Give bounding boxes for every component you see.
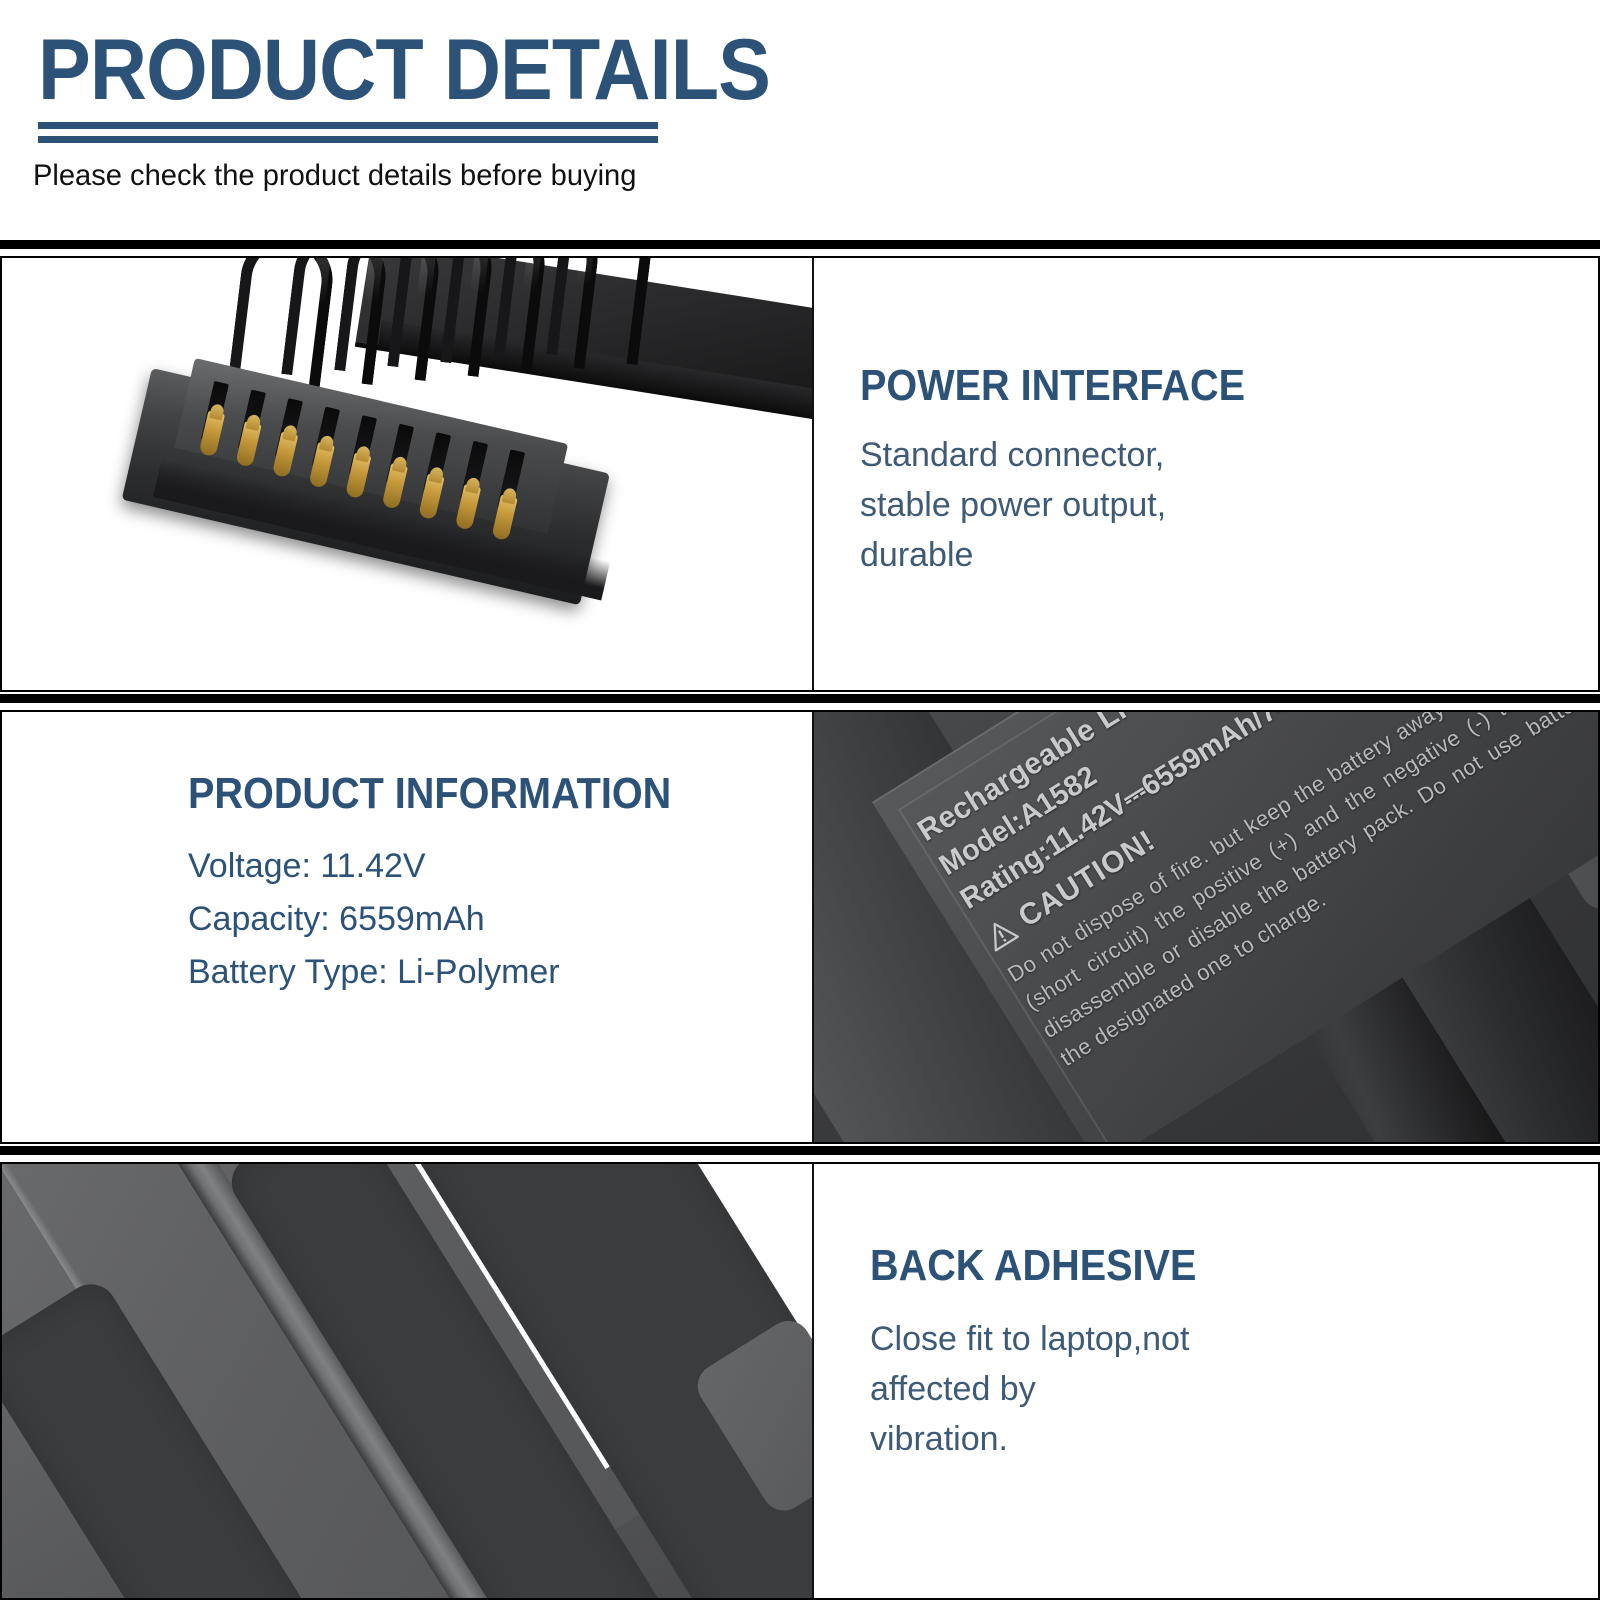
page-subtitle: Please check the product details before … (33, 157, 636, 195)
page-header: PRODUCT DETAILS Please check the product… (0, 0, 1600, 240)
connector-wire (546, 258, 656, 365)
panel-product-information-image-half: Rechargeable Li-ion Battery Pack Model:A… (812, 712, 1598, 1142)
panel-power-interface-image-half (2, 258, 812, 690)
spec-capacity: Capacity: 6559mAh (188, 893, 725, 946)
back-adhesive-body-line: affected by (870, 1364, 1233, 1414)
title-rule-bar-bottom (38, 136, 658, 143)
connector-gold-pin (235, 421, 261, 468)
connector-gold-pin (308, 442, 334, 489)
panel-product-information: PRODUCT INFORMATION Voltage: 11.42V Capa… (0, 710, 1600, 1144)
panel-back-adhesive-image-half (2, 1164, 812, 1598)
page-title: PRODUCT DETAILS (38, 26, 770, 114)
connector-gold-pin (199, 410, 225, 457)
section-divider-rule-3 (0, 1146, 1600, 1155)
power-interface-body-line: Standard connector, (860, 430, 1288, 480)
back-adhesive-heading: BACK ADHESIVE (870, 1242, 1196, 1290)
product-information-heading: PRODUCT INFORMATION (188, 770, 671, 818)
connector-gold-pin (272, 431, 298, 478)
product-information-text-block: PRODUCT INFORMATION Voltage: 11.42V Capa… (188, 770, 725, 999)
back-adhesive-body-line: Close fit to laptop,not (870, 1314, 1233, 1364)
panel-product-information-text-half: PRODUCT INFORMATION Voltage: 11.42V Capa… (2, 712, 812, 1142)
panel-vertical-divider (812, 258, 814, 690)
back-adhesive-photo (2, 1164, 812, 1598)
panel-back-adhesive: BACK ADHESIVE Close fit to laptop,not af… (0, 1162, 1600, 1600)
section-divider-rule-2 (0, 694, 1600, 703)
power-interface-body-line: durable (860, 530, 1288, 580)
back-adhesive-body-line: vibration. (870, 1414, 1233, 1464)
power-interface-body-line: stable power output, (860, 480, 1288, 530)
power-interface-heading: POWER INTERFACE (860, 362, 1245, 410)
title-rule-bar-top (38, 122, 658, 129)
adhesive-strip-notch (689, 1313, 812, 1519)
title-underline-rule (38, 122, 658, 146)
panel-back-adhesive-text-half: BACK ADHESIVE Close fit to laptop,not af… (812, 1164, 1598, 1598)
spec-voltage: Voltage: 11.42V (188, 840, 725, 893)
panel-vertical-divider (812, 1164, 814, 1598)
power-interface-text-block: POWER INTERFACE Standard connector, stab… (860, 362, 1288, 580)
battery-label-photo: Rechargeable Li-ion Battery Pack Model:A… (812, 712, 1598, 1142)
back-adhesive-text-block: BACK ADHESIVE Close fit to laptop,not af… (870, 1242, 1233, 1464)
spec-battery-type: Battery Type: Li-Polymer (188, 946, 725, 999)
panel-power-interface: POWER INTERFACE Standard connector, stab… (0, 256, 1600, 692)
section-divider-rule-1 (0, 240, 1600, 249)
panel-power-interface-text-half: POWER INTERFACE Standard connector, stab… (812, 258, 1598, 690)
battery-connector-photo (2, 258, 812, 690)
panel-vertical-divider (812, 712, 814, 1142)
connector-gold-pin (345, 452, 371, 499)
